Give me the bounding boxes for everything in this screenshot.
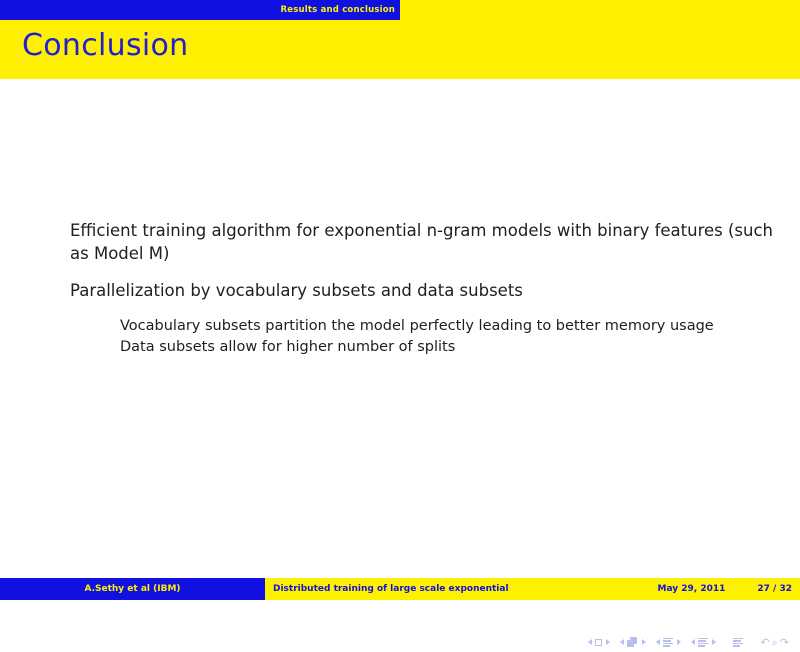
section-previous-icon[interactable] [691, 639, 695, 645]
forward-icon[interactable]: ↷ [780, 637, 789, 648]
slide-navigation-group [586, 639, 611, 646]
slide-next-icon[interactable] [606, 639, 610, 645]
frame-current-icon[interactable] [627, 637, 638, 647]
list-item: Data subsets allow for higher number of … [0, 337, 800, 358]
footline-meta-cell: May 29, 2011 27 / 32 [570, 578, 800, 600]
headline-section-label: Results and conclusion [281, 5, 395, 15]
frame-next-icon[interactable] [642, 639, 646, 645]
footline-title-cell: Distributed training of large scale expo… [265, 578, 570, 600]
section-next-icon[interactable] [712, 639, 716, 645]
beamer-navigation-symbols: ↶ ⌕ ↷ [470, 632, 790, 652]
footline-title-label: Distributed training of large scale expo… [273, 584, 509, 594]
footline-date-label: May 29, 2011 [658, 584, 726, 594]
footline-author-label: A.Sethy et al (IBM) [84, 584, 180, 594]
slide-previous-icon[interactable] [588, 639, 592, 645]
list-item: Efficient training algorithm for exponen… [0, 219, 800, 265]
frame-navigation-group [618, 637, 647, 647]
slide-current-icon[interactable] [595, 639, 602, 646]
headline-filler [400, 0, 800, 20]
title-band: Conclusion [0, 20, 800, 79]
document-navigation-group [731, 638, 745, 647]
subsection-next-icon[interactable] [677, 639, 681, 645]
headline-navigation-bar: Results and conclusion [0, 0, 800, 20]
footline-page-number: 27 / 32 [757, 584, 792, 594]
section-current-icon[interactable] [698, 638, 708, 647]
slide-body: Efficient training algorithm for exponen… [0, 79, 800, 578]
back-icon[interactable]: ↶ [760, 637, 769, 648]
section-navigation-group [689, 638, 717, 647]
list-item: Vocabulary subsets partition the model p… [0, 316, 800, 337]
list-item: Parallelization by vocabulary subsets an… [0, 279, 800, 302]
footline-author-cell: A.Sethy et al (IBM) [0, 578, 265, 600]
document-icon[interactable] [733, 638, 743, 647]
footline: A.Sethy et al (IBM) Distributed training… [0, 578, 800, 600]
subsection-previous-icon[interactable] [656, 639, 660, 645]
search-icon[interactable]: ⌕ [772, 637, 778, 648]
content-list: Efficient training algorithm for exponen… [0, 219, 800, 357]
subsection-navigation-group [654, 638, 682, 647]
subsection-current-icon[interactable] [663, 638, 673, 647]
history-navigation-group: ↶ ⌕ ↷ [759, 637, 790, 648]
sub-list: Vocabulary subsets partition the model p… [0, 316, 800, 357]
frame-previous-icon[interactable] [620, 639, 624, 645]
page-title: Conclusion [22, 28, 189, 63]
headline-section-results-and-conclusion[interactable]: Results and conclusion [0, 0, 400, 20]
